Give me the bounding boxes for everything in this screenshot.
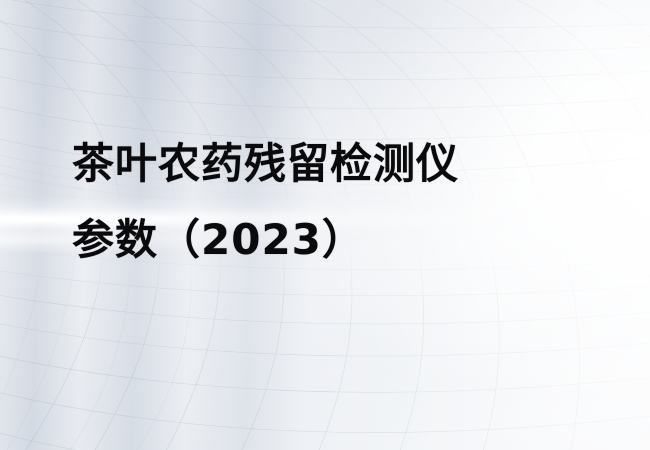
page-title-line-2: 参数（2023）: [72, 202, 592, 278]
page-title-line-1: 茶叶农药残留检测仪: [72, 126, 592, 202]
title-banner: 茶叶农药残留检测仪 参数（2023）: [0, 0, 650, 450]
title-block: 茶叶农药残留检测仪 参数（2023）: [72, 126, 592, 278]
